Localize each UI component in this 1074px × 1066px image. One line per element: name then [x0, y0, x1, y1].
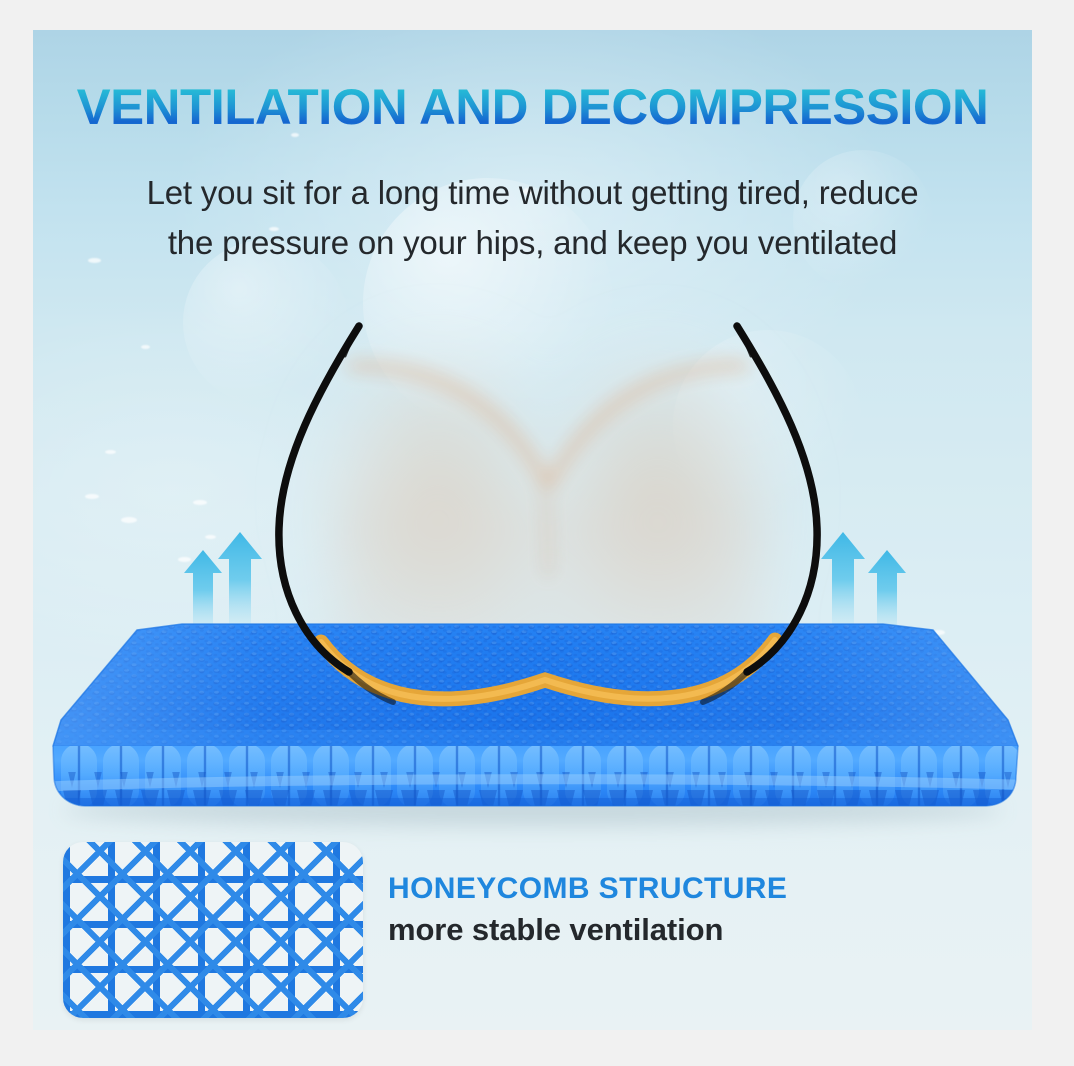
honeycomb-structure-swatch: [63, 842, 363, 1018]
cushion-shadow: [63, 794, 1003, 826]
background-speck: [178, 557, 191, 562]
background-speck: [85, 494, 99, 499]
pressure-contact-line: [321, 640, 775, 699]
feature-caption-subtitle: more stable ventilation: [388, 910, 1008, 950]
artwork-panel: VENTILATION AND DECOMPRESSION Let you si…: [33, 30, 1032, 1030]
cushion-top-outline: [53, 624, 1018, 746]
airflow-arrow-icon: [821, 532, 865, 636]
background-speck: [141, 345, 150, 349]
page-title: VENTILATION AND DECOMPRESSION: [33, 80, 1032, 134]
feature-caption-title: HONEYCOMB STRUCTURE: [388, 870, 1008, 908]
product-feature-image: VENTILATION AND DECOMPRESSION Let you si…: [0, 0, 1074, 1066]
cushion-side-wall: [33, 730, 1032, 820]
background-speck: [193, 500, 207, 505]
hips-silhouette-outline: [279, 326, 817, 702]
airflow-arrows-right: [821, 532, 906, 638]
cushion-cell-row: [33, 744, 1032, 808]
background-speck: [105, 450, 116, 454]
feature-caption: HONEYCOMB STRUCTURE more stable ventilat…: [388, 870, 1008, 950]
page-subtitle: Let you sit for a long time without gett…: [93, 168, 972, 268]
airflow-arrow-icon: [868, 550, 906, 638]
airflow-arrow-icon: [218, 532, 262, 636]
page-subtitle-line-1: Let you sit for a long time without gett…: [93, 168, 972, 218]
background-speck: [933, 630, 945, 635]
cushion-outline: [53, 624, 1018, 806]
body-cleft-accent: [351, 366, 745, 575]
airflow-arrow-icon: [184, 550, 222, 638]
background-speck: [121, 517, 137, 523]
gel-cushion: [33, 590, 1032, 820]
background-bubble: [673, 330, 863, 520]
airflow-arrows-left: [184, 532, 262, 638]
seated-body-mass: [298, 323, 798, 673]
background-speck: [205, 535, 216, 539]
cushion-top-face: [33, 590, 1032, 790]
page-subtitle-line-2: the pressure on your hips, and keep you …: [93, 218, 972, 268]
